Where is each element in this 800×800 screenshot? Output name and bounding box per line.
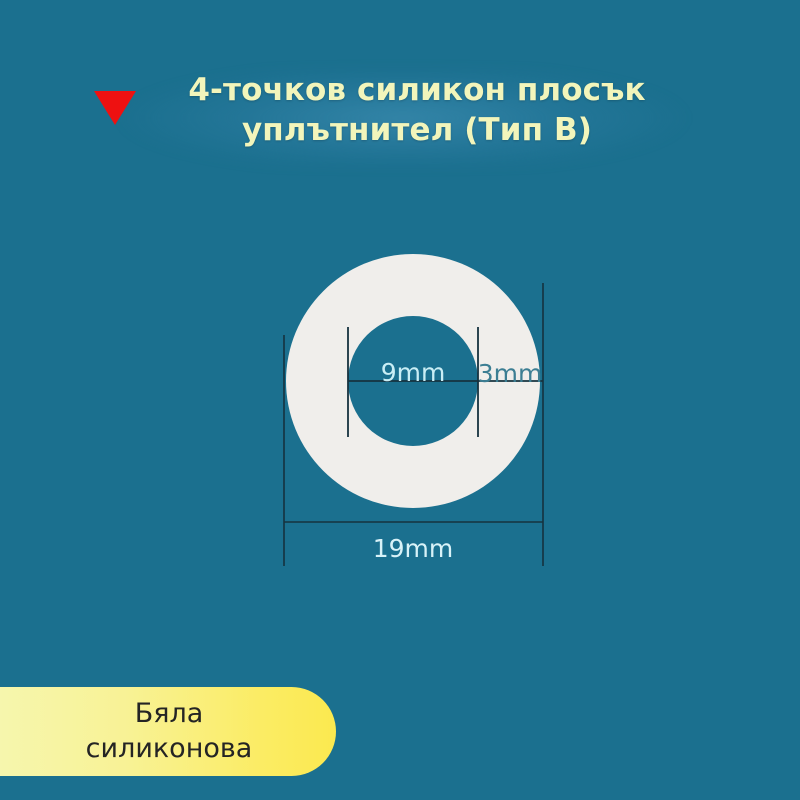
- dimension-label-outer-diameter: 19mm: [373, 534, 454, 563]
- product-spec-card: 4-точков силикон плосък уплътнител (Тип …: [0, 0, 800, 800]
- material-badge: Бяла силиконова: [0, 687, 336, 776]
- dimension-label-inner-diameter: 9mm: [381, 358, 446, 387]
- dimension-label-wall-thickness: 3mm: [478, 359, 543, 388]
- gasket-cross-section-diagram: 9mm 3mm 19mm: [0, 0, 800, 800]
- material-badge-label: Бяла силиконова: [86, 697, 253, 766]
